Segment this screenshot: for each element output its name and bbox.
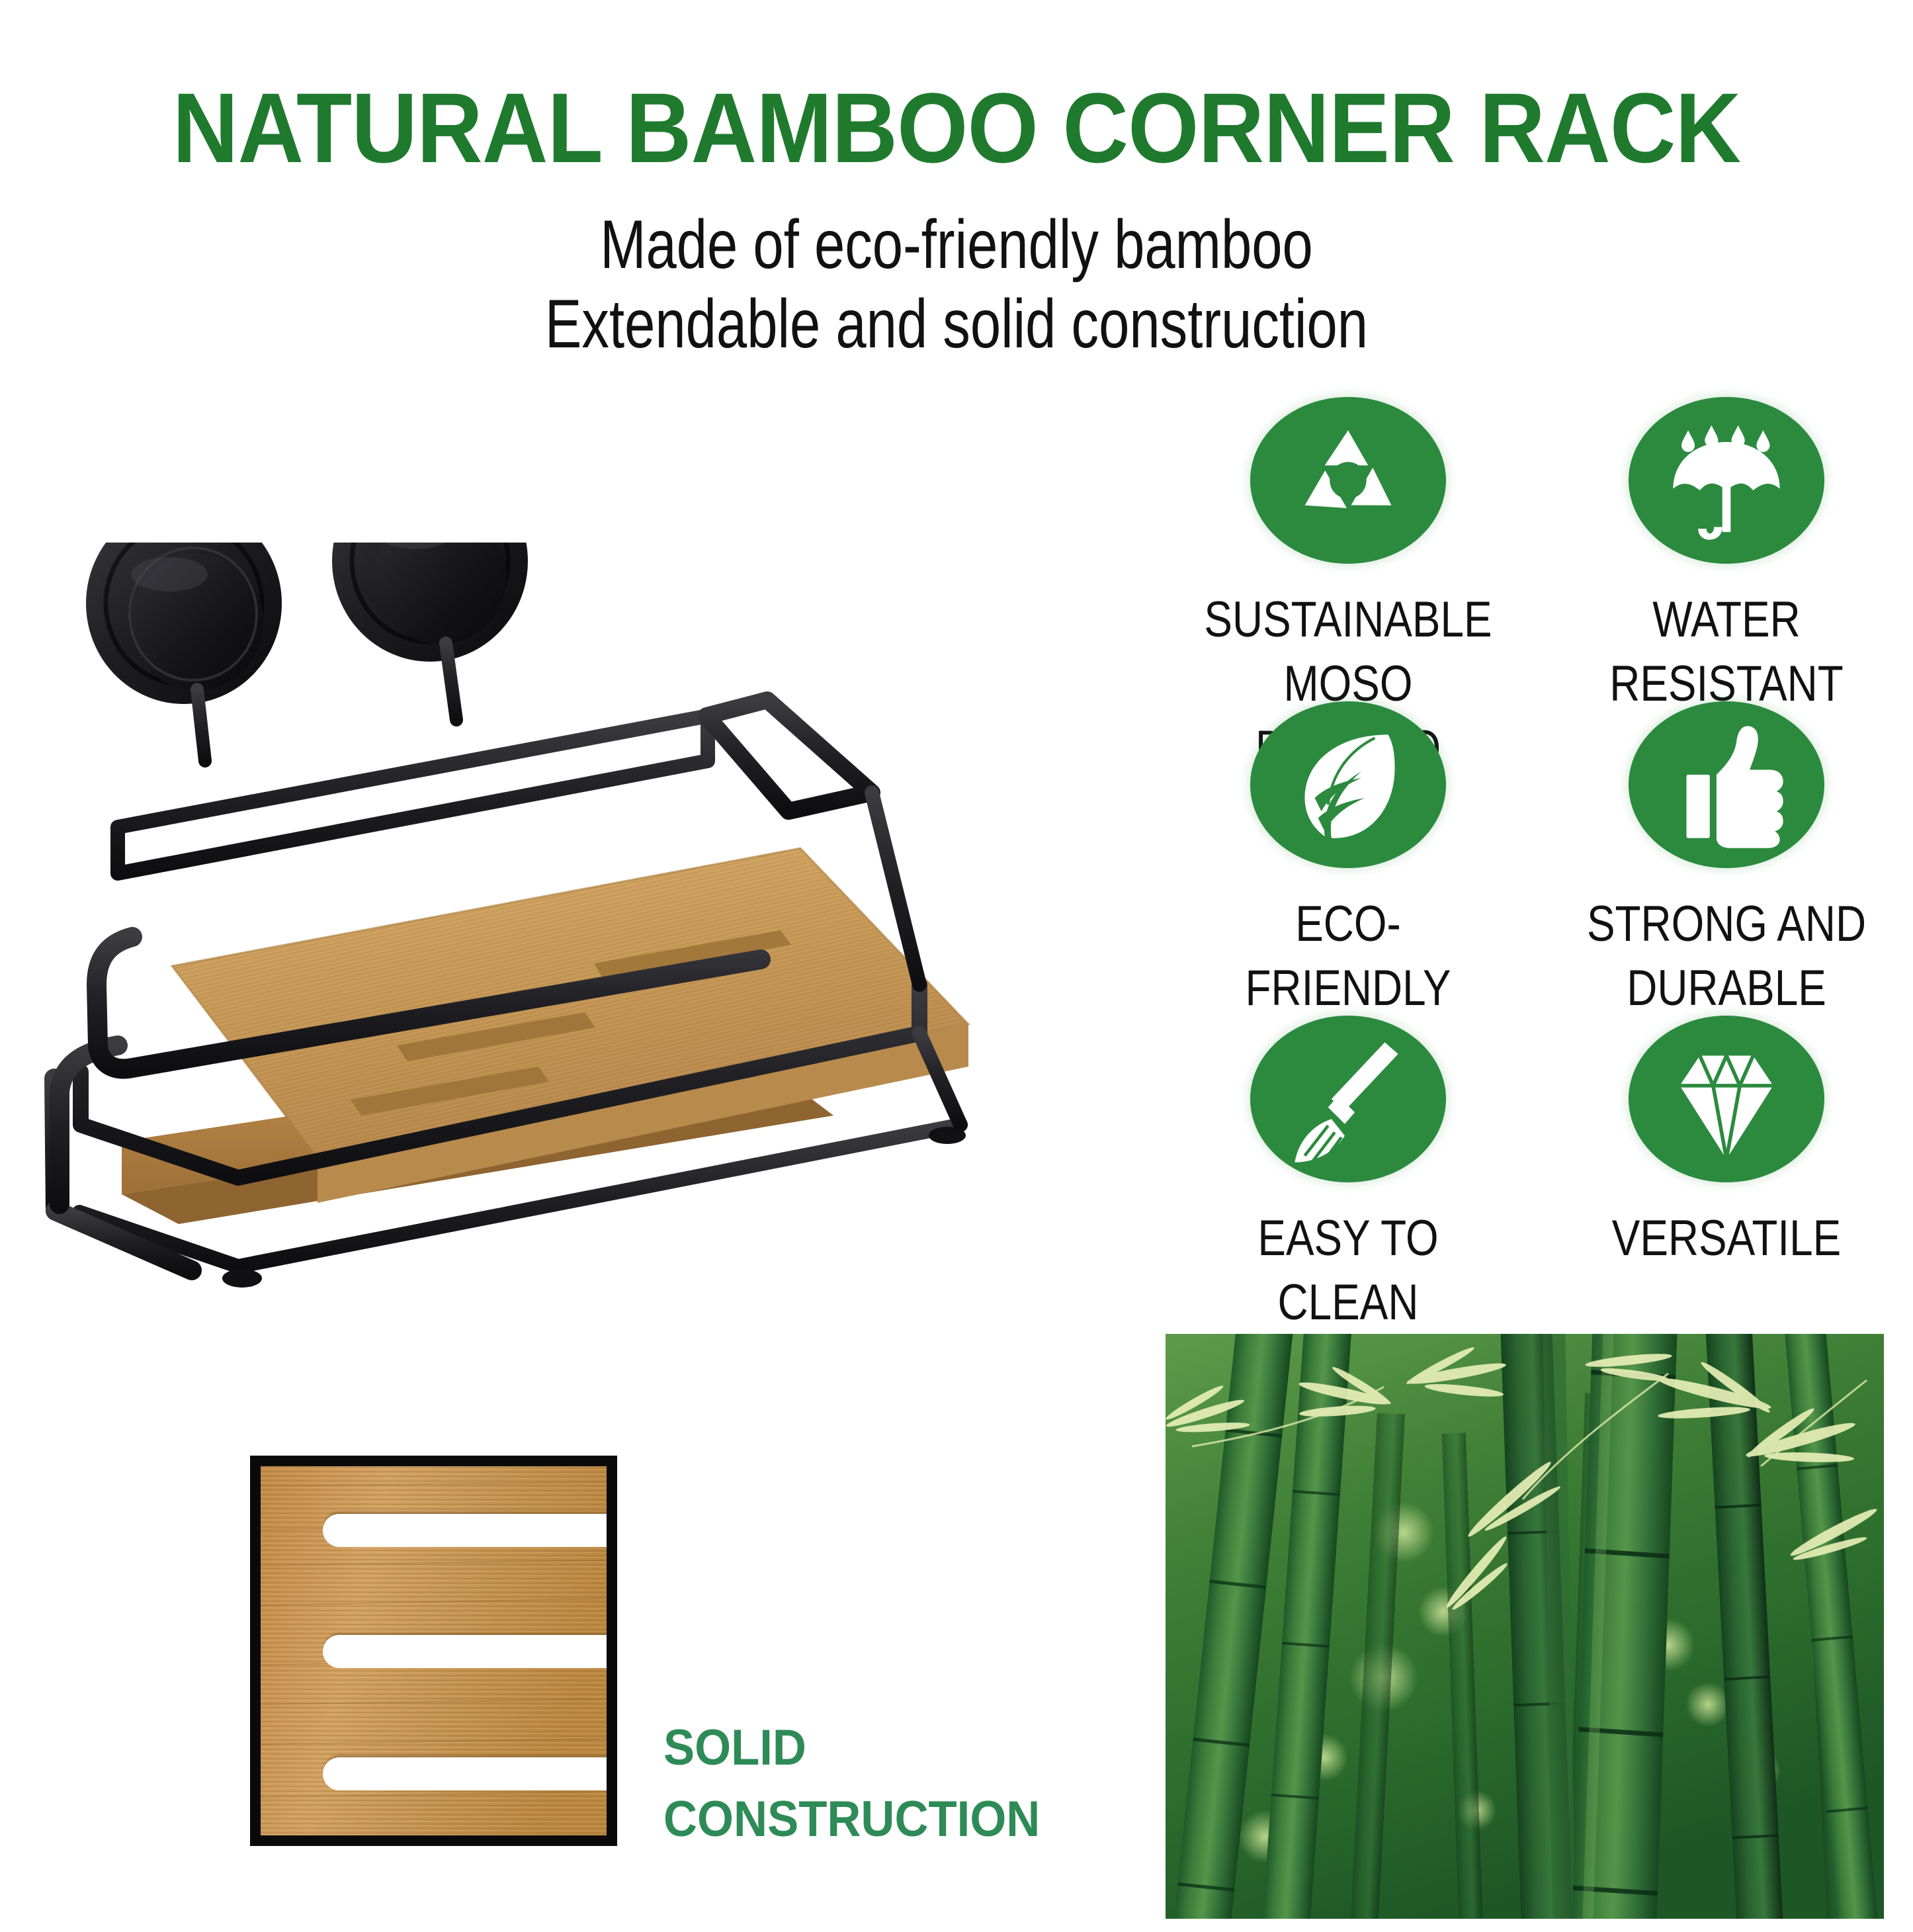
feature-item-easy-to-clean: EASY TO CLEAN xyxy=(1176,1016,1520,1335)
solid-line-2: CONSTRUCTION xyxy=(663,1791,1040,1847)
bamboo-slot-detail-inset xyxy=(250,1456,617,1846)
inset-slot xyxy=(323,1635,617,1668)
suction-cup-right xyxy=(332,543,528,662)
header: NATURAL BAMBOO CORNER RACK Made of eco-f… xyxy=(0,0,1913,371)
thumbs-up-icon xyxy=(1629,701,1824,868)
umbrella-rain-icon xyxy=(1629,397,1824,564)
subtitle-line-2: Extendable and solid construction xyxy=(191,290,1722,359)
infographic-canvas: NATURAL BAMBOO CORNER RACK Made of eco-f… xyxy=(0,0,1913,1932)
feature-label: EASY TO CLEAN xyxy=(1204,1206,1493,1335)
recycle-icon xyxy=(1250,397,1446,564)
feature-label: ECO-FRIENDLY xyxy=(1204,892,1493,1021)
feature-item-eco-friendly: ECO-FRIENDLY xyxy=(1176,701,1520,1021)
feature-item-strong-durable: STRONG AND DURABLE xyxy=(1554,701,1898,1021)
solid-construction-label: SOLIDCONSTRUCTION xyxy=(663,1712,1094,1855)
feature-label: VERSATILE xyxy=(1582,1206,1871,1270)
broom-icon xyxy=(1250,1016,1446,1182)
feature-item-water-resistant: WATER RESISTANT xyxy=(1554,397,1898,717)
feature-label: WATER RESISTANT xyxy=(1582,588,1871,717)
bamboo-forest-photo xyxy=(1166,1334,1884,1919)
feature-item-versatile: VERSATILE xyxy=(1554,1016,1898,1270)
leaf-icon xyxy=(1250,701,1446,868)
diamond-icon xyxy=(1629,1016,1824,1182)
feature-label: STRONG AND DURABLE xyxy=(1582,892,1871,1021)
page-title: NATURAL BAMBOO CORNER RACK xyxy=(77,78,1837,177)
feature-grid: SUSTAINABLE MOSO BAMBOO WATER RES xyxy=(1164,397,1898,1323)
suction-cup-left xyxy=(86,543,282,704)
solid-line-1: SOLID xyxy=(663,1720,806,1776)
subtitle-line-1: Made of eco-friendly bamboo xyxy=(191,210,1722,279)
inset-slot xyxy=(323,1514,617,1547)
inset-slot xyxy=(323,1757,617,1790)
product-image xyxy=(40,543,1164,1482)
side-handle-right xyxy=(706,700,872,811)
